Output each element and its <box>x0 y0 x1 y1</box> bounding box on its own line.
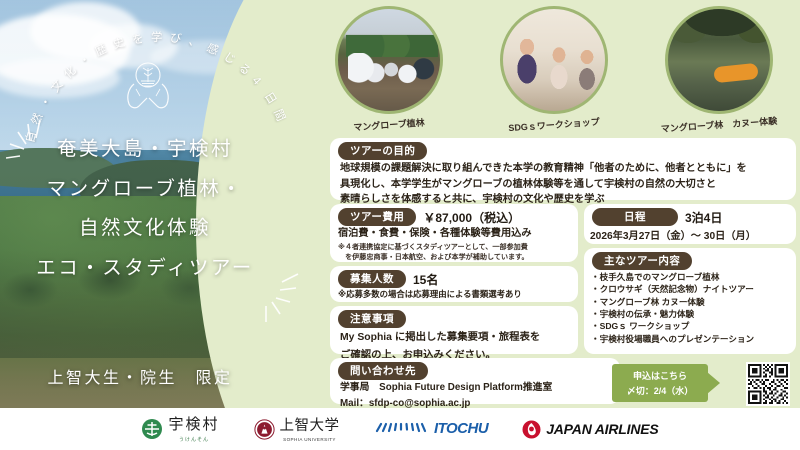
uken-crest-icon <box>141 418 163 440</box>
mangrove-planting-photo <box>335 6 443 114</box>
schedule-label: 日程 <box>592 208 678 226</box>
tour-purpose-label: ツアーの目的 <box>338 142 427 160</box>
list-item: 宇検村役場職員へのプレゼンテーション <box>591 333 796 345</box>
sponsor-footer: 宇検村 うけんそん 上智大学 SOPHIA UNIVERSITY <box>0 408 800 450</box>
tour-purpose-panel: ツアーの目的 地球規模の課題解決に取り組んできた本学の教育精神「他者のために、他… <box>330 138 796 200</box>
schedule-panel: 日程 3泊4日 2026年3月27日（金）〜 30日（月） <box>584 204 796 244</box>
notice-label: 注意事項 <box>338 310 406 328</box>
photo-gallery: マングローブ植林 SDGｓワークショップ マングローブ林 カヌー体験 <box>330 6 798 138</box>
sophia-university-name: 上智大学 <box>280 418 340 434</box>
itochu-mark-icon <box>374 422 430 433</box>
gallery-caption: SDGｓワークショップ <box>495 114 614 135</box>
contact-panel: 問い合わせ先 学事局 Sophia Future Design Platform… <box>330 358 620 404</box>
tour-cost-label: ツアー費用 <box>338 208 416 226</box>
capacity-value: 15名 <box>413 271 438 288</box>
tour-cost-note-line: を伊藤忠商事・日本航空、および本学が補助しています。 <box>338 253 572 262</box>
apply-line-1: 申込はこちら <box>633 369 687 382</box>
uken-village-name: 宇検村 <box>168 416 219 433</box>
sophia-university-name-en: SOPHIA UNIVERSITY <box>280 437 340 442</box>
apply-callout[interactable]: 申込はこちら 〆切：2/4（水） <box>612 362 798 406</box>
tour-content-list: 枝手久島でのマングローブ植林 クロウサギ（天然記念物）ナイトツアー マングローブ… <box>591 271 796 345</box>
tour-cost-includes: 宿泊費・食費・保険・各種体験等費用込み <box>338 227 572 241</box>
arrow-right-icon <box>707 372 720 394</box>
gallery-item: マングローブ植林 <box>330 6 448 131</box>
tour-purpose-line: 地球規模の課題解決に取り組んできた本学の教育精神「他者のために、他者とともに」を <box>340 162 786 176</box>
hero-title-line: マングローブ植林・ <box>0 180 290 200</box>
tour-purpose-line: 具現化し、本学学生がマングローブの植林体験等を通して宇検村の自然の大切さと <box>340 178 786 192</box>
gallery-caption: マングローブ林 カヌー体験 <box>660 114 779 135</box>
mangrove-canoe-photo <box>665 6 773 114</box>
japan-airlines-logo: JAPAN AIRLINES <box>522 420 658 439</box>
jal-wordmark: JAPAN AIRLINES <box>546 421 658 437</box>
gallery-item: SDGｓワークショップ <box>495 6 613 131</box>
notice-line: My Sophia に掲出した募集要項・旅程表を <box>340 330 570 346</box>
apply-banner[interactable]: 申込はこちら 〆切：2/4（水） <box>612 364 708 402</box>
hands-plant-icon <box>117 58 179 112</box>
hero-title: 奄美大島・宇検村 マングローブ植林・ 自然文化体験 エコ・スタディツアー <box>0 140 290 298</box>
schedule-dates: 2026年3月27日（金）〜 30日（月） <box>590 227 796 242</box>
contact-office: 学事局 Sophia Future Design Platform推進室 <box>340 381 612 396</box>
sdgs-workshop-photo <box>500 6 608 114</box>
application-qr-code[interactable] <box>746 362 790 406</box>
qr-code-icon <box>748 364 788 404</box>
capacity-label: 募集人数 <box>338 270 406 288</box>
tour-cost-panel: ツアー費用 ￥87,000（税込） 宿泊費・食費・保険・各種体験等費用込み ※４… <box>330 204 578 262</box>
list-item: クロウサギ（天然記念物）ナイトツアー <box>591 283 796 295</box>
capacity-panel: 募集人数 15名 ※応募多数の場合は応募理由による書類選考あり <box>330 266 578 302</box>
schedule-duration: 3泊4日 <box>685 209 722 226</box>
list-item: SDGｓ ワークショップ <box>591 320 796 332</box>
capacity-note: ※応募多数の場合は応募理由による書類選考あり <box>338 289 578 301</box>
notice-panel: 注意事項 My Sophia に掲出した募集要項・旅程表を ご確認の上、お申込み… <box>330 306 578 354</box>
tour-content-panel: 主なツアー内容 枝手久島でのマングローブ植林 クロウサギ（天然記念物）ナイトツア… <box>584 248 796 354</box>
hero-title-line: 奄美大島・宇検村 <box>0 140 290 160</box>
sophia-university-logo: 上智大学 SOPHIA UNIVERSITY <box>254 417 340 442</box>
tour-cost-note-line: ※４者連携協定に基づくスタディツアーとして、一部参加費 <box>338 243 572 252</box>
list-item: マングローブ林 カヌー体験 <box>591 296 796 308</box>
sophia-crest-icon <box>254 419 275 440</box>
uken-village-reading: うけんそん <box>168 436 219 443</box>
gallery-item: マングローブ林 カヌー体験 <box>660 6 778 131</box>
apply-line-2: 〆切：2/4（水） <box>627 384 694 397</box>
jal-tsurumaru-icon <box>522 420 541 439</box>
contact-label: 問い合わせ先 <box>338 362 428 380</box>
itochu-logo: ITOCHU <box>374 420 489 438</box>
hero-eligibility-text: 上智大生・院生 限定 <box>0 364 280 388</box>
gallery-caption: マングローブ植林 <box>330 114 449 135</box>
hero-title-line: 自然文化体験 <box>0 219 290 239</box>
list-item: 枝手久島でのマングローブ植林 <box>591 271 796 283</box>
tour-cost-amount: ￥87,000（税込） <box>423 209 520 226</box>
poster-canvas: 自然・文化・歴史を学び、感じる4日間 奄美大島・宇検村 マングローブ植林・ 自然… <box>0 0 800 450</box>
uken-village-logo: 宇検村 うけんそん <box>141 416 219 443</box>
itochu-wordmark: ITOCHU <box>434 420 488 437</box>
hero-title-line: エコ・スタディツアー <box>0 259 290 279</box>
tour-content-label: 主なツアー内容 <box>592 252 692 270</box>
list-item: 宇検村の伝承・魅力体験 <box>591 308 796 320</box>
